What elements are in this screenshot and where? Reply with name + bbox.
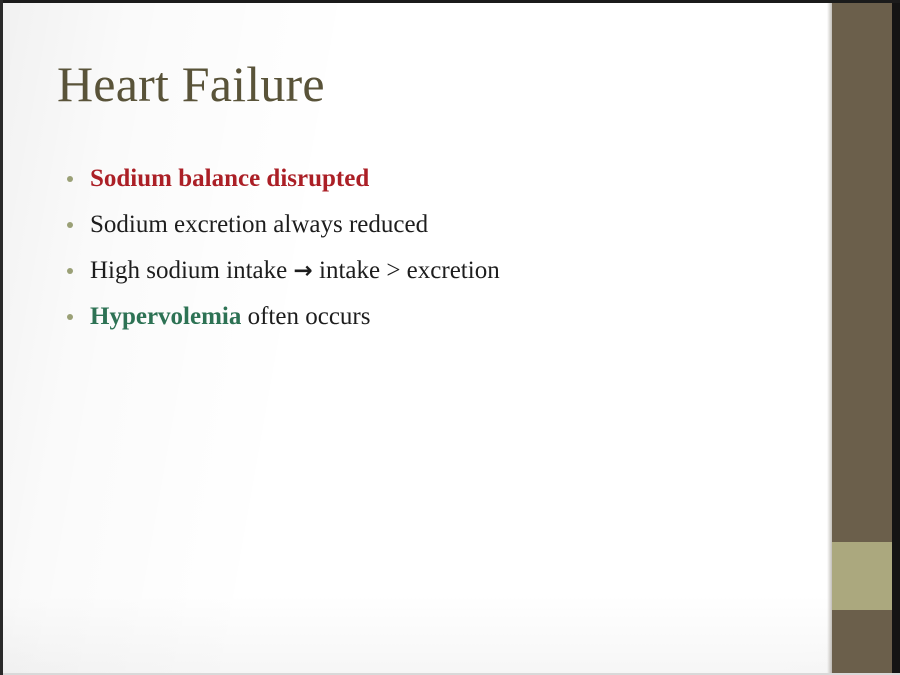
bullet-text-emphasis: Sodium excretion always reduced bbox=[90, 211, 428, 238]
list-item: Sodium excretion always reduced bbox=[62, 209, 802, 241]
bullet-dot-icon bbox=[67, 222, 73, 228]
bullet-dot-icon bbox=[67, 176, 73, 182]
bullet-text-emphasis: Hypervolemia bbox=[90, 303, 241, 330]
decorative-sidebar bbox=[832, 0, 900, 675]
bullet-text-trailing: often occurs bbox=[241, 303, 370, 330]
bullet-text-trailing: intake > excretion bbox=[313, 257, 500, 284]
bullet-text-emphasis: Sodium balance disrupted bbox=[90, 165, 369, 192]
frame-edge-left bbox=[0, 0, 3, 675]
bullet-dot-icon bbox=[67, 268, 73, 274]
sidebar-dark-edge-strip bbox=[892, 0, 900, 675]
sidebar-brown-band bbox=[832, 0, 892, 675]
list-item: High sodium intake → intake > excretion bbox=[62, 255, 802, 287]
sidebar-khaki-accent-block bbox=[832, 542, 892, 610]
right-arrow-icon: → bbox=[293, 258, 312, 284]
list-item: Hypervolemia often occurs bbox=[62, 301, 802, 333]
slide-root: Heart Failure Sodium balance disrupted S… bbox=[0, 0, 900, 675]
bullet-dot-icon bbox=[67, 314, 73, 320]
frame-edge-top bbox=[0, 0, 900, 3]
bullet-text-emphasis: High sodium intake bbox=[90, 257, 293, 284]
bullet-list: Sodium balance disrupted Sodium excretio… bbox=[62, 163, 802, 347]
page-title: Heart Failure bbox=[57, 56, 757, 112]
list-item: Sodium balance disrupted bbox=[62, 163, 802, 195]
